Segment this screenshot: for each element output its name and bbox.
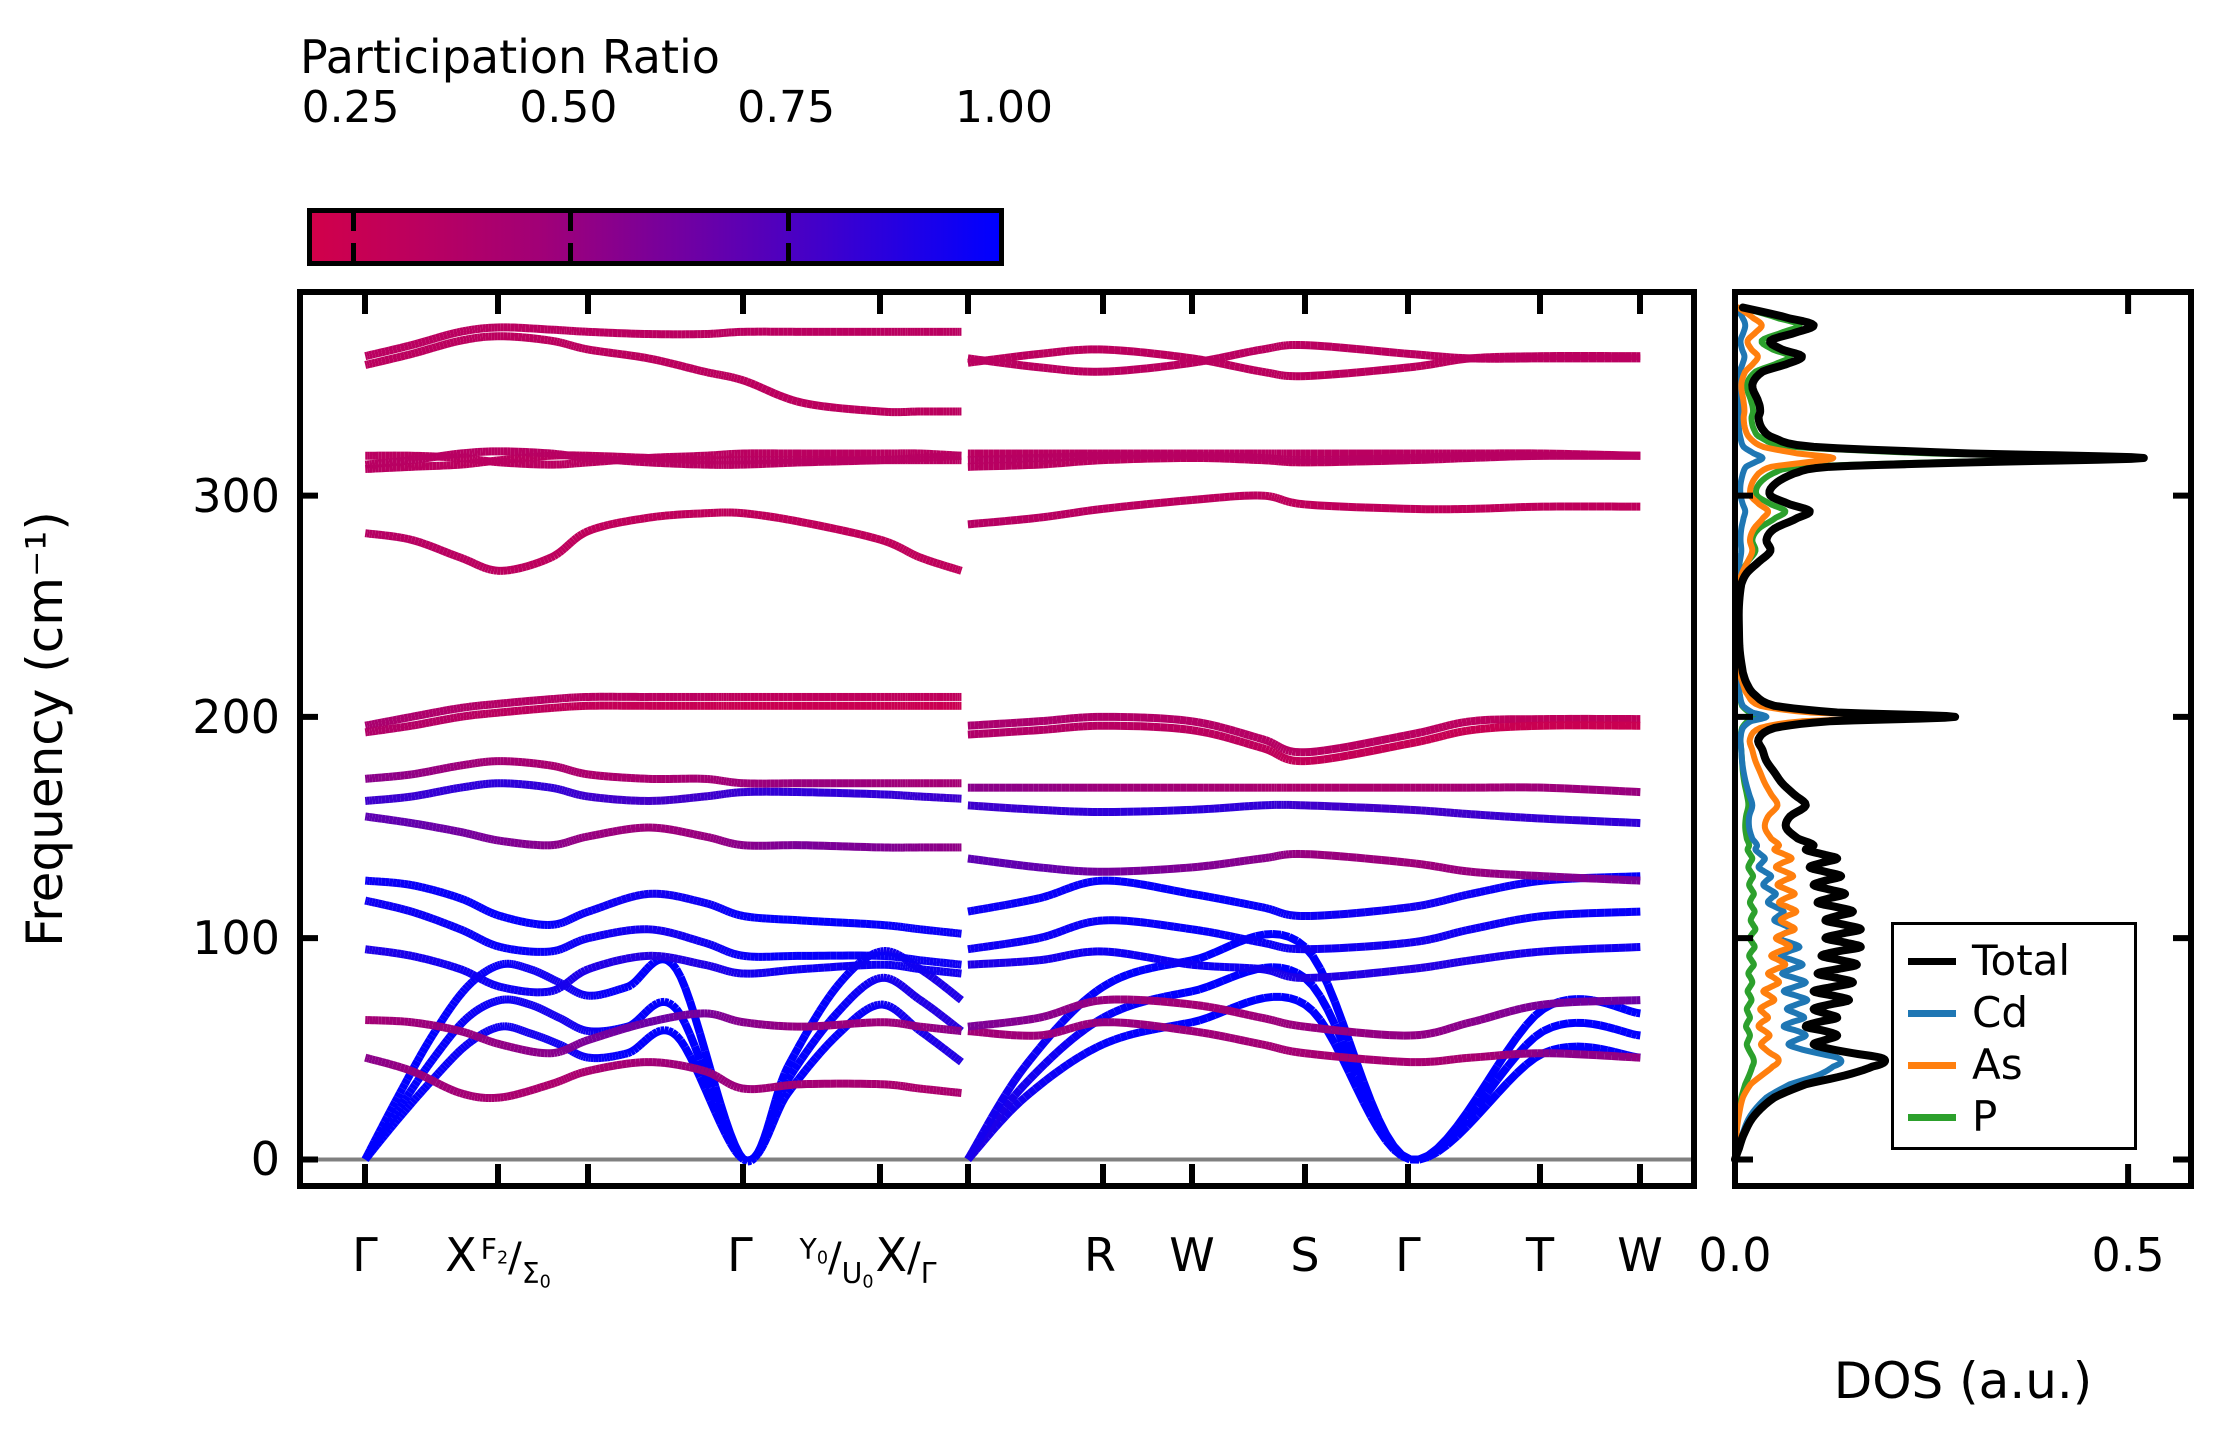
band-segment	[613, 1031, 618, 1032]
band-segment	[973, 1145, 976, 1150]
band-segment	[631, 828, 636, 829]
band-segment	[1121, 1036, 1127, 1038]
band-segment	[1305, 1027, 1311, 1028]
band-segment	[994, 1023, 1000, 1024]
band-segment	[747, 1161, 751, 1162]
band-segment	[478, 1037, 481, 1038]
band-segment	[450, 925, 453, 926]
band-segment	[1053, 933, 1057, 935]
band-segment	[1034, 1018, 1039, 1019]
band-segment	[1231, 974, 1239, 977]
band-segment	[1526, 1016, 1535, 1026]
band-segment	[685, 1024, 690, 1035]
band-segment	[1065, 928, 1069, 930]
band-segment	[541, 1009, 543, 1010]
band-segment	[1517, 1026, 1526, 1038]
band-segment	[1161, 925, 1168, 926]
band-segment	[1145, 968, 1151, 969]
band-segment	[426, 723, 430, 724]
band-segment	[1078, 952, 1083, 953]
band-segment	[1410, 906, 1416, 907]
band-segment	[557, 789, 560, 790]
band-segment	[1145, 1030, 1151, 1031]
band-segment	[1550, 1003, 1557, 1004]
band-segment	[1070, 1027, 1074, 1028]
band-segment	[415, 773, 418, 774]
band-segment	[1061, 1030, 1065, 1031]
band-segment	[674, 830, 678, 831]
band-segment	[522, 1002, 524, 1003]
band-segment	[600, 1035, 604, 1036]
band-segment	[1454, 723, 1458, 724]
band-segment	[1147, 923, 1154, 924]
band-segment	[412, 1085, 415, 1089]
band-segment	[737, 955, 740, 956]
band-segment	[686, 1014, 690, 1015]
band-segment	[415, 824, 418, 825]
band-segment	[463, 1032, 466, 1033]
band-segment	[988, 1033, 993, 1034]
band-segment	[1167, 502, 1174, 503]
band-segment	[592, 528, 596, 529]
band-segment	[571, 840, 573, 841]
band-segment	[1199, 987, 1207, 989]
band-segment	[1382, 739, 1390, 741]
band-segment	[1289, 502, 1292, 503]
band-segment	[554, 1082, 557, 1083]
band-segment	[1209, 897, 1214, 898]
band-segment	[1203, 931, 1209, 932]
band-segment	[579, 1042, 582, 1043]
band-segment	[569, 841, 571, 842]
band-segment	[1277, 745, 1279, 746]
band-segment	[557, 988, 560, 989]
band-segment	[517, 1001, 519, 1002]
band-segment	[1167, 889, 1174, 890]
band-segment	[514, 950, 518, 951]
band-segment	[726, 971, 729, 972]
band-segment	[626, 897, 631, 898]
band-segment	[511, 842, 515, 843]
band-segment	[729, 971, 732, 972]
band-segment	[901, 1014, 904, 1016]
band-segment	[447, 924, 450, 925]
band-segment	[1365, 858, 1373, 859]
band-segment	[751, 1158, 754, 1161]
band-segment	[429, 826, 433, 827]
band-segment	[436, 1083, 440, 1085]
band-segment	[1357, 752, 1365, 754]
band-segment	[640, 1042, 643, 1045]
band-segment	[724, 841, 727, 842]
band-segment	[1272, 1020, 1275, 1021]
band-segment	[856, 1015, 859, 1018]
band-segment	[538, 1036, 540, 1037]
band-segment	[1005, 1087, 1010, 1095]
band-segment	[1039, 897, 1044, 898]
band-segment	[483, 909, 486, 910]
band-segment	[1186, 928, 1192, 929]
band-segment	[377, 1132, 380, 1137]
band-segment	[823, 1046, 827, 1050]
band-segment	[953, 1055, 956, 1057]
band-segment	[577, 1028, 579, 1029]
band-segment	[802, 1035, 806, 1041]
band-segment	[618, 989, 621, 990]
band-segment	[483, 837, 486, 838]
band-segment	[484, 971, 486, 973]
band-segment	[436, 920, 440, 921]
band-segment	[926, 560, 929, 561]
band-segment	[526, 1091, 530, 1092]
band-segment	[579, 1055, 581, 1056]
band-segment	[1373, 911, 1381, 912]
band-segment	[574, 794, 577, 795]
band-segment	[1057, 891, 1061, 893]
band-segment	[1061, 1010, 1065, 1012]
band-segment	[1230, 936, 1235, 937]
band-segment	[1426, 865, 1431, 866]
band-segment	[943, 565, 946, 566]
band-segment	[1397, 736, 1404, 737]
band-segment	[950, 567, 953, 568]
band-segment	[404, 822, 408, 823]
band-segment	[1382, 860, 1390, 861]
band-segment	[1373, 972, 1381, 973]
band-segment	[567, 544, 569, 546]
band-segment	[460, 1031, 463, 1032]
band-segment	[562, 948, 564, 949]
band-segment	[1225, 1037, 1230, 1038]
band-segment	[1258, 1017, 1262, 1018]
band-segment	[592, 1069, 596, 1070]
band-segment	[582, 837, 585, 838]
band-segment	[840, 1029, 843, 1032]
band-segment	[410, 1089, 413, 1093]
band-segment	[983, 946, 988, 947]
band-segment	[466, 560, 469, 561]
band-segment	[374, 1137, 376, 1142]
band-segment	[1244, 734, 1249, 735]
band-segment	[1305, 1053, 1311, 1054]
band-segment	[908, 552, 910, 553]
band-segment	[824, 527, 830, 528]
band-segment	[1057, 515, 1061, 516]
band-segment	[1127, 1023, 1134, 1024]
band-segment	[782, 1073, 785, 1081]
band-segment	[466, 972, 469, 973]
band-segment	[1286, 759, 1289, 760]
band-segment	[1266, 1019, 1269, 1020]
band-segment	[1178, 993, 1185, 994]
band-segment	[596, 908, 600, 909]
band-segment	[1083, 952, 1088, 953]
band-segment	[657, 1019, 661, 1020]
band-segment	[1284, 749, 1287, 750]
band-segment	[551, 556, 554, 558]
band-segment	[1230, 901, 1235, 902]
band-segment	[484, 1032, 486, 1033]
band-segment	[475, 564, 478, 565]
band-segment	[923, 1002, 926, 1004]
band-segment	[1313, 986, 1321, 997]
band-segment	[454, 831, 457, 832]
band-segment	[716, 1076, 719, 1078]
band-segment	[1219, 899, 1224, 900]
band-segment	[1062, 1017, 1068, 1023]
band-segment	[467, 1016, 469, 1018]
band-segment	[1526, 1058, 1535, 1065]
band-segment	[1532, 881, 1538, 882]
band-segment	[562, 1079, 564, 1080]
band-segment	[417, 1057, 420, 1061]
band-segment	[1272, 971, 1275, 972]
band-segment	[1152, 967, 1158, 968]
band-segment	[988, 907, 993, 908]
band-segment	[1269, 857, 1272, 858]
band-segment	[600, 906, 604, 908]
band-segment	[562, 768, 564, 769]
band-segment	[1253, 941, 1257, 942]
band-segment	[1048, 934, 1052, 935]
band-segment	[859, 988, 862, 991]
band-segment	[1225, 737, 1230, 738]
band-segment	[559, 949, 562, 950]
band-segment	[695, 1017, 700, 1034]
band-segment	[1051, 1053, 1057, 1058]
band-segment	[1296, 503, 1300, 504]
band-segment	[433, 457, 437, 458]
band-segment	[713, 1014, 716, 1015]
band-segment	[708, 837, 711, 838]
band-segment	[571, 540, 573, 542]
band-segment	[460, 898, 463, 899]
band-segment	[450, 830, 453, 831]
band-segment	[569, 542, 571, 544]
band-segment	[764, 1130, 767, 1139]
band-segment	[1300, 1026, 1305, 1027]
band-segment	[489, 1029, 491, 1030]
band-segment	[647, 966, 650, 969]
band-segment	[389, 1064, 393, 1065]
band-segment	[726, 1082, 729, 1083]
band-segment	[530, 564, 534, 565]
band-segment	[466, 1095, 469, 1096]
band-segment	[1313, 1011, 1321, 1020]
band-segment	[1462, 930, 1466, 931]
band-segment	[1471, 960, 1476, 961]
band-segment	[1466, 1022, 1471, 1023]
band-segment	[719, 1015, 722, 1016]
band-segment	[1426, 739, 1431, 740]
band-segment	[1214, 898, 1219, 899]
band-segment	[1070, 954, 1074, 955]
band-segment	[604, 1067, 608, 1068]
band-segment	[1186, 964, 1192, 965]
band-segment	[1121, 975, 1127, 977]
band-segment	[579, 972, 582, 974]
band-segment	[504, 948, 507, 949]
band-segment	[1593, 1048, 1601, 1049]
band-segment	[1439, 736, 1443, 737]
band-segment	[1281, 499, 1283, 500]
band-segment	[1397, 970, 1404, 971]
band-segment	[1235, 740, 1240, 741]
band-segment	[701, 1070, 704, 1071]
band-segment	[1450, 963, 1454, 964]
band-segment	[876, 539, 880, 540]
band-segment	[701, 942, 704, 943]
band-segment	[875, 1005, 878, 1006]
band-segment	[493, 966, 495, 967]
band-segment	[466, 833, 469, 834]
band-segment	[488, 911, 491, 912]
band-segment	[1490, 1016, 1495, 1017]
band-segment	[1219, 727, 1224, 728]
band-segment	[1073, 1057, 1079, 1061]
band-segment	[585, 938, 588, 939]
band-segment	[571, 918, 573, 919]
band-segment	[483, 940, 486, 941]
band-segment	[455, 1053, 457, 1055]
band-segment	[1017, 902, 1023, 903]
band-segment	[401, 727, 405, 728]
band-segment	[422, 794, 426, 795]
band-segment	[402, 1111, 404, 1114]
band-segment	[466, 932, 469, 933]
band-segment	[592, 835, 596, 836]
band-segment	[1209, 724, 1214, 725]
band-segment	[665, 1018, 669, 1019]
band-segment	[1435, 902, 1439, 903]
band-segment	[604, 1034, 608, 1035]
band-segment	[1439, 936, 1443, 937]
band-segment	[1526, 1006, 1532, 1007]
band-segment	[463, 1094, 466, 1095]
band-segment	[668, 1031, 672, 1033]
band-segment	[1088, 510, 1093, 511]
band-segment	[1269, 944, 1272, 945]
band-segment	[713, 1075, 716, 1076]
band-segment	[1281, 757, 1283, 758]
band-segment	[1180, 729, 1186, 730]
band-segment	[788, 1060, 791, 1066]
band-segment	[731, 953, 734, 954]
band-segment	[569, 919, 571, 920]
band-segment	[626, 520, 631, 521]
band-segment	[615, 990, 618, 991]
band-segment	[1389, 909, 1396, 910]
band-segment	[971, 948, 975, 949]
band-segment	[674, 933, 678, 934]
band-segment	[1034, 518, 1039, 519]
band-segment	[802, 522, 807, 523]
band-segment	[576, 772, 579, 773]
band-segment	[1402, 1155, 1410, 1160]
band-segment	[1430, 738, 1434, 739]
band-segment	[443, 710, 447, 711]
band-segment	[1458, 1025, 1462, 1026]
band-segment	[518, 568, 522, 569]
band-segment	[577, 1054, 579, 1055]
band-segment	[559, 987, 562, 989]
band-segment	[1244, 904, 1249, 905]
band-segment	[475, 1036, 478, 1037]
band-segment	[1332, 856, 1340, 857]
band-segment	[1140, 504, 1147, 505]
band-segment	[486, 1040, 489, 1041]
band-segment	[585, 836, 588, 837]
band-segment	[1023, 901, 1029, 902]
band-segment	[724, 910, 727, 911]
band-segment	[404, 718, 408, 719]
band-segment	[1340, 1057, 1348, 1058]
band-segment	[1192, 730, 1198, 731]
band-segment	[988, 946, 993, 947]
band-segment	[422, 543, 426, 544]
band-segment	[1320, 996, 1327, 1009]
band-segment	[567, 946, 569, 947]
band-segment	[1382, 945, 1390, 946]
band-segment	[608, 903, 612, 905]
band-segment	[636, 957, 640, 958]
band-segment	[1416, 906, 1421, 907]
band-segment	[1203, 1033, 1209, 1034]
band-segment	[672, 1005, 676, 1009]
band-segment	[429, 1079, 433, 1081]
band-segment	[988, 1024, 993, 1025]
band-segment	[457, 717, 460, 718]
band-segment	[1239, 1002, 1247, 1005]
band-segment	[457, 968, 460, 969]
band-segment	[1192, 1005, 1198, 1006]
band-segment	[1262, 943, 1266, 944]
band-segment	[526, 968, 528, 969]
band-segment	[608, 933, 612, 934]
band-segment	[1416, 864, 1421, 865]
band-segment	[518, 1049, 522, 1050]
band-segment	[457, 708, 460, 709]
band-segment	[600, 935, 604, 936]
band-segment	[1167, 728, 1174, 729]
band-segment	[1230, 1011, 1235, 1012]
band-segment	[405, 1108, 407, 1111]
band-segment	[1446, 899, 1450, 900]
band-segment	[1324, 1055, 1332, 1056]
band-segment	[574, 771, 577, 772]
band-segment	[1297, 1000, 1305, 1004]
band-segment	[1051, 1072, 1057, 1076]
band-segment	[507, 988, 511, 989]
band-segment	[1480, 926, 1485, 927]
band-segment	[412, 912, 415, 913]
band-segment	[1121, 953, 1127, 954]
band-segment	[690, 899, 694, 900]
band-segment	[1632, 1034, 1637, 1035]
band-segment	[422, 772, 426, 773]
band-segment	[584, 1057, 586, 1058]
band-segment	[1174, 1029, 1180, 1030]
band-segment	[389, 720, 393, 721]
band-segment	[685, 1047, 690, 1056]
band-segment	[457, 897, 460, 898]
band-segment	[1281, 935, 1289, 937]
band-segment	[576, 1073, 579, 1074]
band-segment	[734, 914, 737, 915]
band-segment	[1454, 932, 1458, 933]
band-segment	[571, 1046, 573, 1047]
band-segment	[669, 957, 673, 958]
